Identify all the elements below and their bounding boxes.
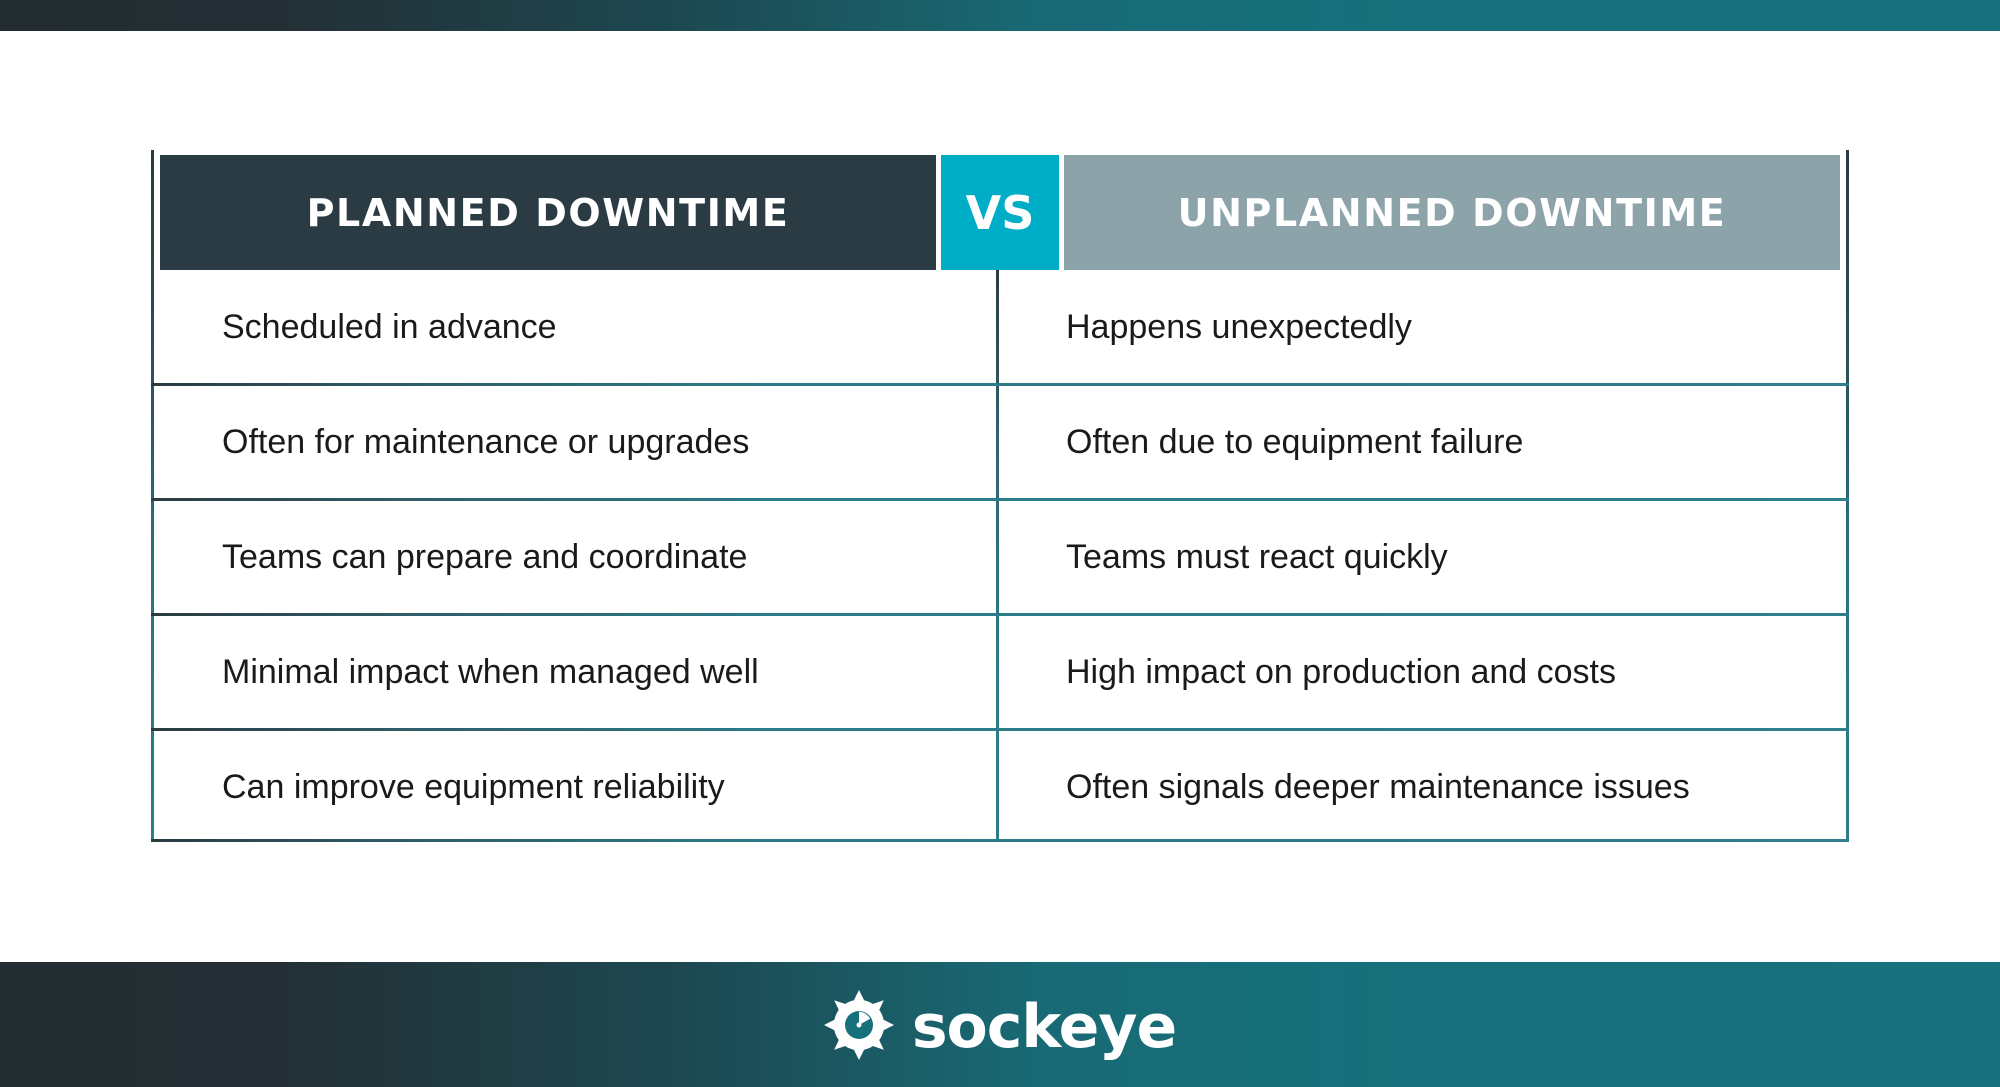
table-row: Can improve equipment reliability Often …: [151, 730, 1849, 845]
table-body: Scheduled in advance Happens unexpectedl…: [151, 270, 1849, 842]
header-planned-downtime: PLANNED DOWNTIME: [160, 155, 936, 270]
header-vs-label: VS: [966, 186, 1035, 240]
table-header-row: PLANNED DOWNTIME VS UNPLANNED DOWNTIME: [151, 155, 1849, 270]
header-vs-badge: VS: [941, 155, 1059, 270]
cell-planned: Minimal impact when managed well: [151, 615, 996, 730]
table-row: Often for maintenance or upgrades Often …: [151, 385, 1849, 500]
cell-unplanned: Often due to equipment failure: [996, 385, 1846, 500]
gear-clock-icon: [824, 990, 894, 1060]
cell-planned: Often for maintenance or upgrades: [151, 385, 996, 500]
table-bottom-border: [151, 839, 1849, 842]
table-row: Scheduled in advance Happens unexpectedl…: [151, 270, 1849, 385]
header-unplanned-label: UNPLANNED DOWNTIME: [1178, 191, 1727, 235]
cell-planned: Teams can prepare and coordinate: [151, 500, 996, 615]
header-planned-label: PLANNED DOWNTIME: [307, 191, 790, 235]
cell-unplanned: Teams must react quickly: [996, 500, 1846, 615]
cell-planned: Can improve equipment reliability: [151, 730, 996, 845]
cell-planned: Scheduled in advance: [151, 270, 996, 385]
cell-unplanned: Often signals deeper maintenance issues: [996, 730, 1846, 845]
brand-name: sockeye: [912, 997, 1176, 1057]
comparison-table: PLANNED DOWNTIME VS UNPLANNED DOWNTIME S…: [151, 150, 1849, 842]
cell-unplanned: High impact on production and costs: [996, 615, 1846, 730]
cell-unplanned: Happens unexpectedly: [996, 270, 1846, 385]
table-row: Teams can prepare and coordinate Teams m…: [151, 500, 1849, 615]
footer-logo: sockeye: [0, 962, 2000, 1087]
header-unplanned-downtime: UNPLANNED DOWNTIME: [1064, 155, 1840, 270]
table-row: Minimal impact when managed well High im…: [151, 615, 1849, 730]
top-brand-bar: [0, 0, 2000, 31]
